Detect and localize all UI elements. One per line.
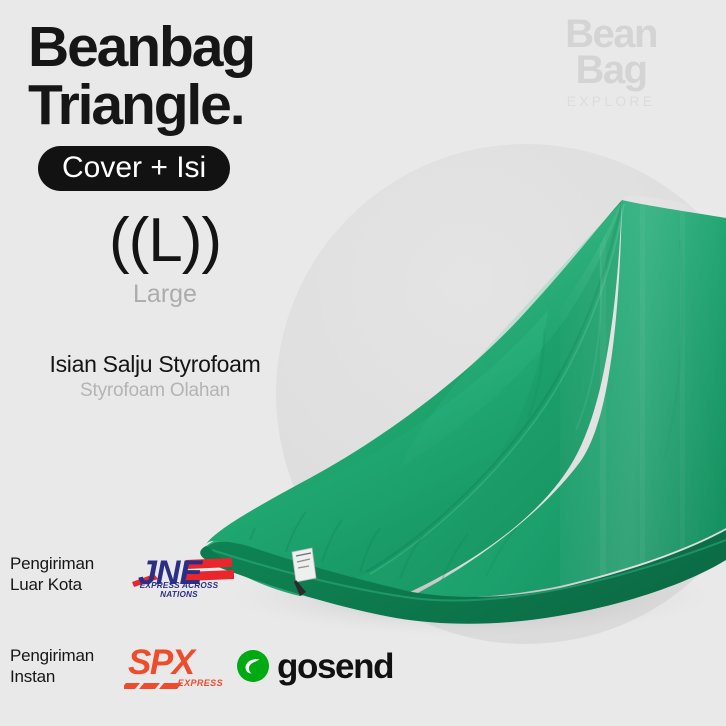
headline-line-2: Triangle. <box>28 76 458 134</box>
spx-logo: SPX EXPRESS <box>124 642 224 690</box>
spx-tagline: EXPRESS <box>178 678 223 688</box>
product-poster: Bean Bag EXPLORE Beanbag Triangle. Cover… <box>0 0 726 726</box>
filling-title: Isian Salju Styrofoam <box>0 352 310 377</box>
brand-logo: Bean Bag EXPLORE <box>526 14 696 108</box>
filling-block: Isian Salju Styrofoam Styrofoam Olahan <box>0 352 310 402</box>
jne-tagline: EXPRESS ACROSS NATIONS <box>120 581 238 599</box>
jne-logo: JNE EXPRESS ACROSS NATIONS <box>120 548 238 600</box>
cover-isi-badge-label: Cover + Isi <box>62 151 206 184</box>
cover-isi-badge: Cover + Isi <box>38 146 230 191</box>
care-label-line-1 <box>296 553 311 556</box>
product-backdrop-circle <box>276 144 726 644</box>
gosend-logo: gosend <box>236 649 393 684</box>
size-code: ((L)) <box>0 210 330 272</box>
spx-wordmark: SPX <box>128 643 198 682</box>
shipping-label-instan: Pengiriman Instan <box>10 645 114 687</box>
brand-logo-tagline: EXPLORE <box>526 94 696 108</box>
care-label-tag <box>292 548 316 582</box>
headline-line-1: Beanbag <box>28 18 458 76</box>
shipping-label-luar-kota: Pengiriman Luar Kota <box>10 553 114 595</box>
gosend-circle <box>237 650 269 682</box>
care-label-strap <box>294 580 306 596</box>
size-label: Large <box>0 282 330 307</box>
beanbag-care-label <box>292 548 316 596</box>
gosend-wordmark: gosend <box>277 649 393 684</box>
brand-logo-line2: Bag <box>526 50 696 90</box>
gosend-mark-icon <box>236 649 270 683</box>
size-block: ((L)) Large <box>0 210 330 307</box>
care-label-line-2 <box>297 559 310 562</box>
headline-block: Beanbag Triangle. Cover + Isi <box>28 18 458 191</box>
shipping-row-instan: Pengiriman Instan SPX EXPRESS gosend <box>10 642 393 690</box>
spx-speed-streaks <box>124 683 182 689</box>
care-label-line-3 <box>298 566 309 568</box>
filling-subtitle: Styrofoam Olahan <box>0 381 310 402</box>
shipping-row-luar-kota: Pengiriman Luar Kota JNE EXPRESS ACROSS … <box>10 548 238 600</box>
